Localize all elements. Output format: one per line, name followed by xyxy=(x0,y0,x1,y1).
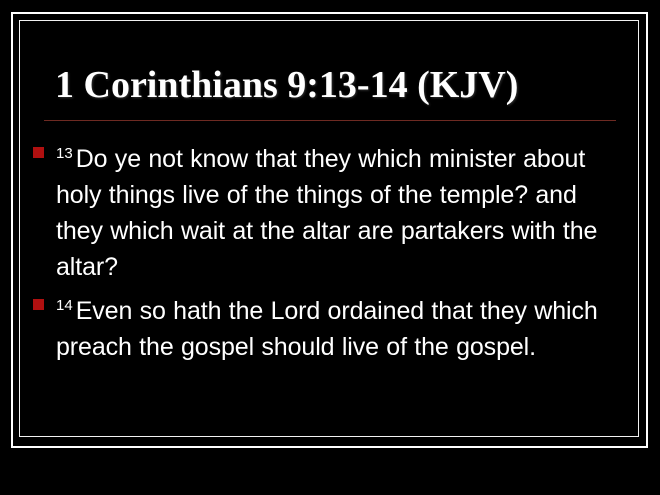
verse-number: 13 xyxy=(56,145,76,162)
presentation-slide: 1 Corinthians 9:13-14 (KJV) 13Do ye not … xyxy=(0,0,660,495)
slide-body: 13Do ye not know that they which ministe… xyxy=(30,136,630,368)
bullet-text: 13Do ye not know that they which ministe… xyxy=(56,145,597,281)
bullet-item: 14Even so hath the Lord ordained that th… xyxy=(30,288,630,365)
verse-text: Even so hath the Lord ordained that they… xyxy=(56,297,598,361)
square-bullet-icon xyxy=(33,147,44,158)
verse-text: Do ye not know that they which minister … xyxy=(56,145,597,281)
bullet-text: 14Even so hath the Lord ordained that th… xyxy=(56,297,598,361)
square-bullet-icon xyxy=(33,299,44,310)
slide-title: 1 Corinthians 9:13-14 (KJV) xyxy=(55,62,625,108)
bullet-item: 13Do ye not know that they which ministe… xyxy=(30,136,630,285)
title-divider xyxy=(44,120,616,121)
verse-number: 14 xyxy=(56,297,76,314)
